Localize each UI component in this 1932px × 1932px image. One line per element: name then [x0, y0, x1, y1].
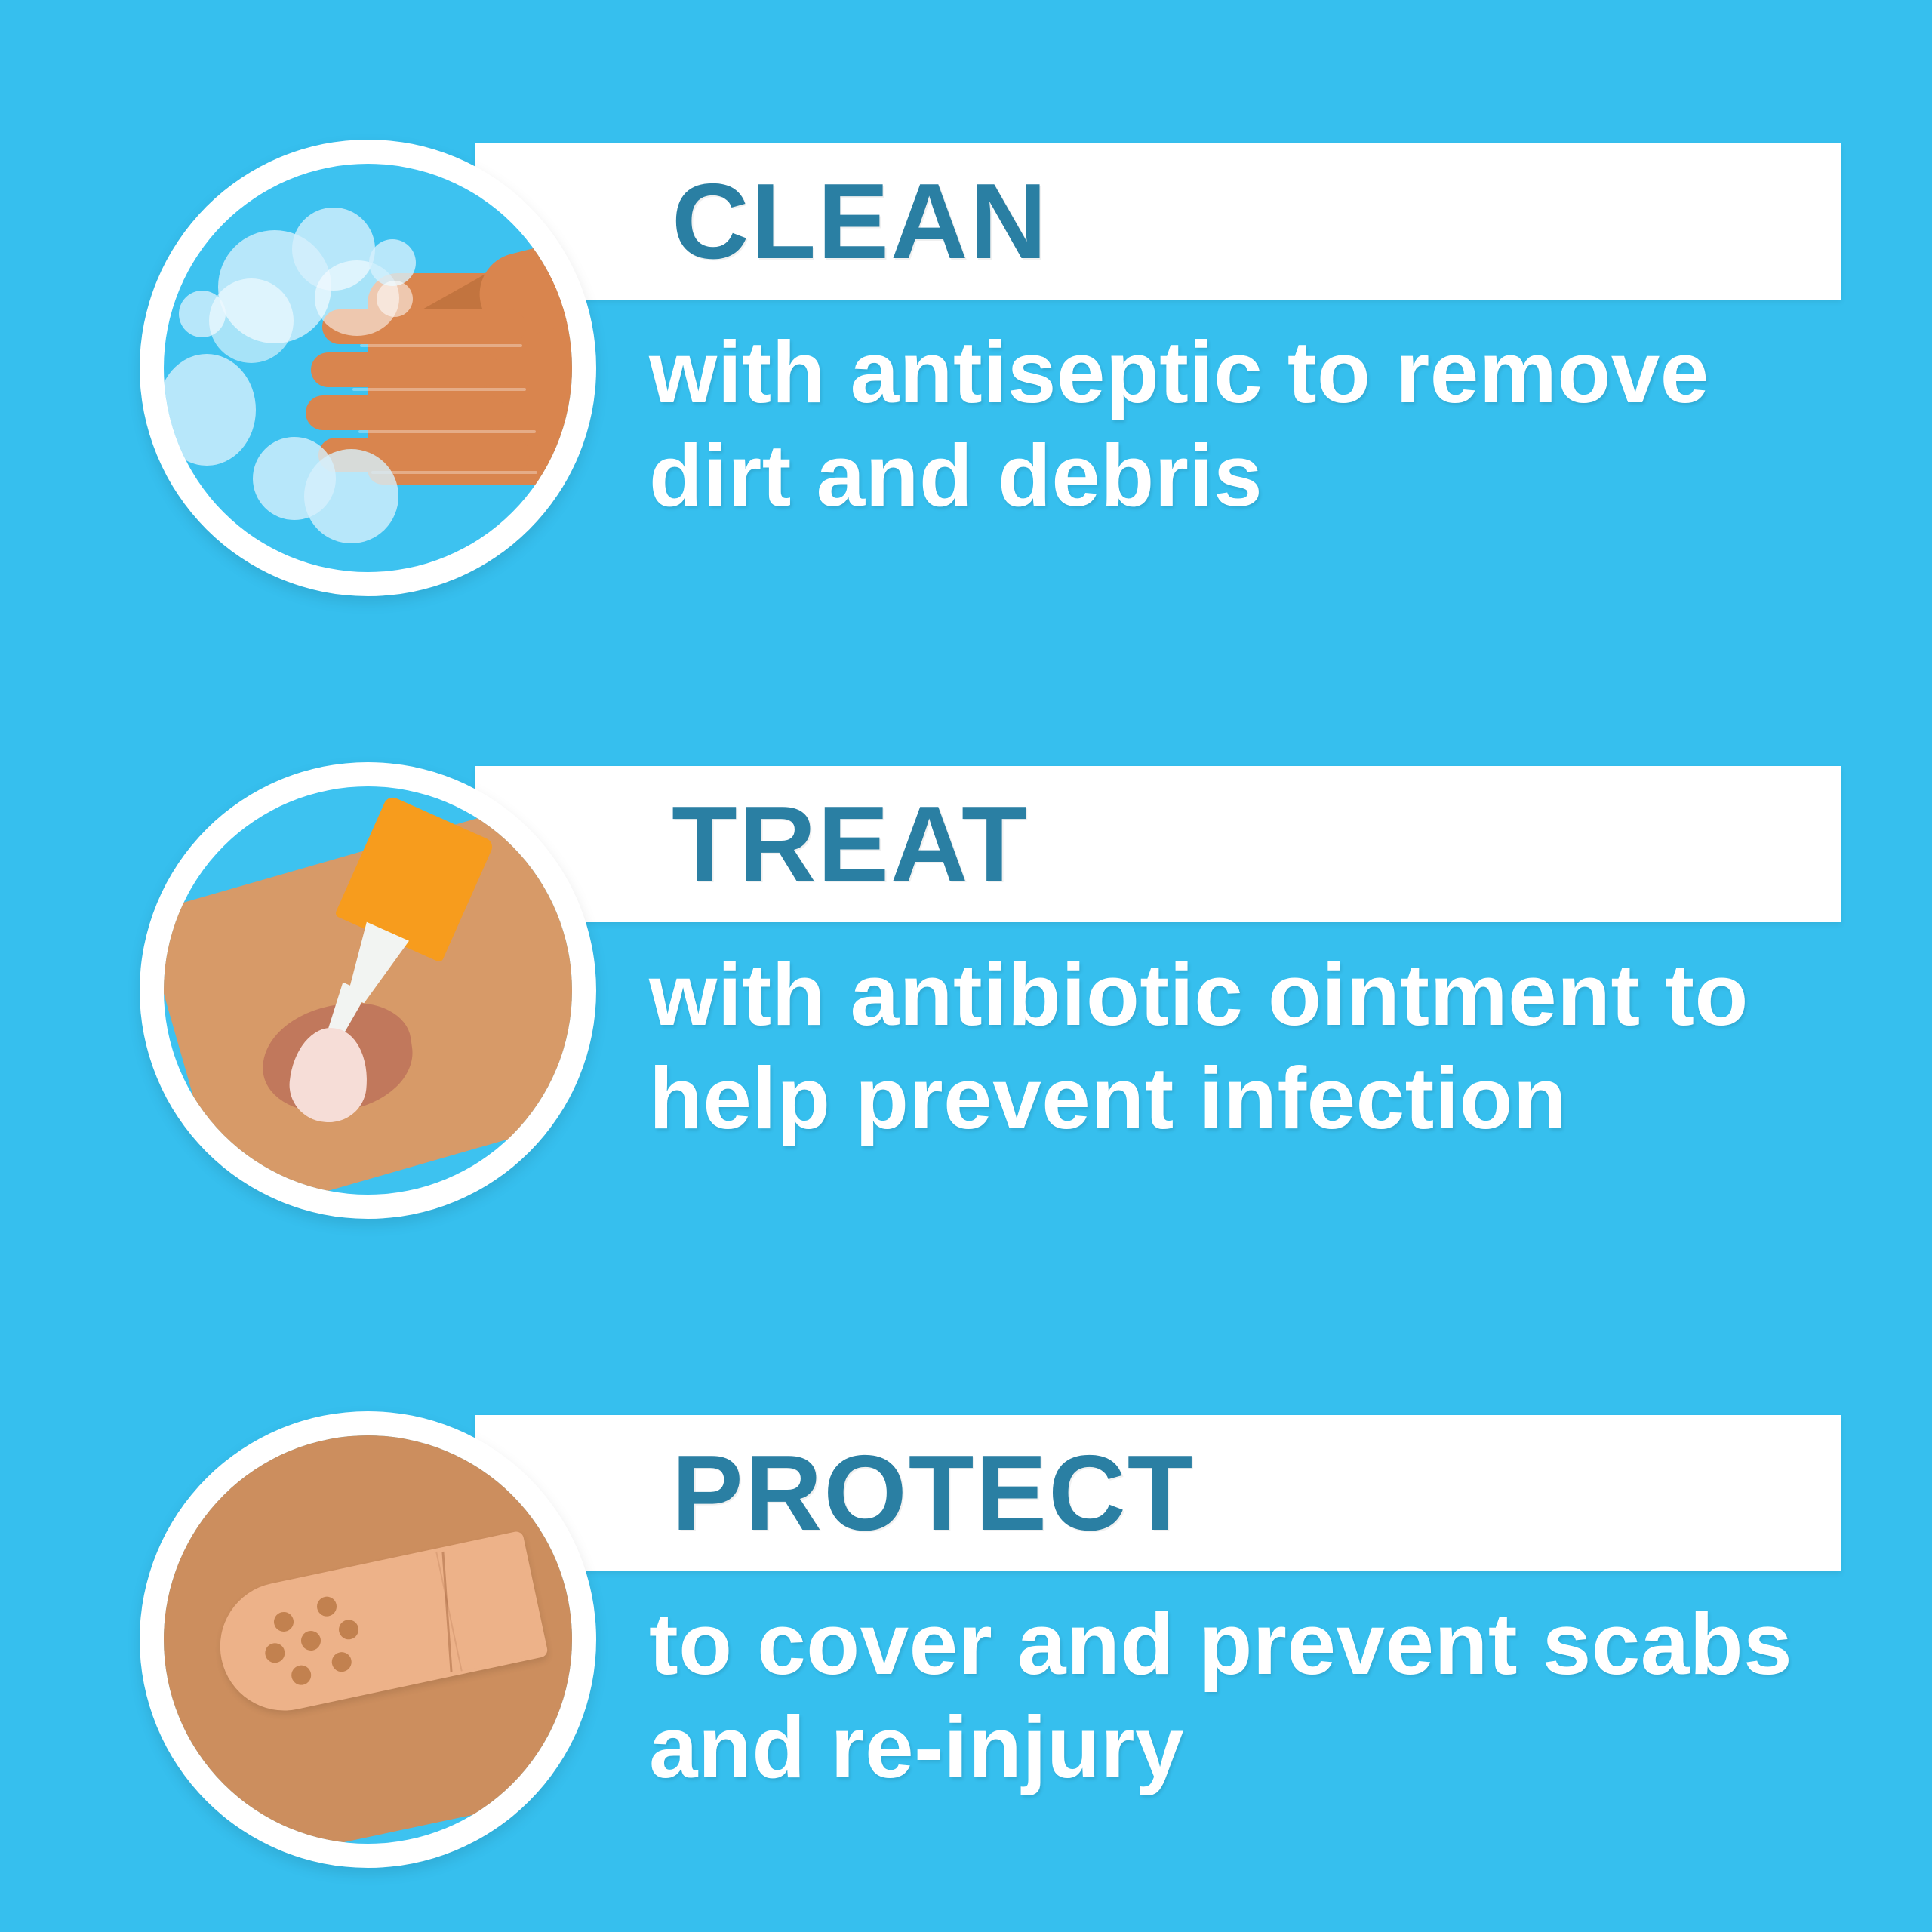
finger-crease-2	[352, 388, 526, 391]
finger-3	[306, 395, 506, 430]
body-line-1: with antiseptic to remove	[649, 321, 1887, 424]
soap-bubble	[304, 449, 398, 543]
body-line-2: dirt and debris	[649, 424, 1887, 528]
hand-washing-with-soap-icon	[140, 140, 596, 596]
step-clean: CLEAN with antiseptic to remove dirt and…	[0, 121, 1932, 634]
body-line-1: to cover and prevent scabs	[649, 1592, 1887, 1696]
wound-care-infographic: CLEAN with antiseptic to remove dirt and…	[0, 0, 1932, 1932]
step-body-clean: with antiseptic to remove dirt and debri…	[649, 321, 1887, 528]
finger-crease-4	[371, 471, 537, 474]
soap-bubble	[377, 281, 413, 317]
soap-bubble	[369, 239, 416, 286]
step-protect: PROTECT to cover and prevent scabs and r…	[0, 1392, 1932, 1906]
step-heading-treat: TREAT	[672, 791, 1029, 898]
step-body-protect: to cover and prevent scabs and re-injury	[649, 1592, 1887, 1799]
bandage-hole	[300, 1629, 323, 1653]
body-line-1: with antibiotic ointment to	[649, 943, 1887, 1047]
antibiotic-ointment-tube-icon	[140, 762, 596, 1219]
adhesive-bandage-icon	[140, 1411, 596, 1868]
bandage-hole	[272, 1611, 296, 1634]
soap-bubble	[209, 278, 294, 363]
heading-bar-clean: CLEAN	[475, 143, 1841, 300]
heading-bar-protect: PROTECT	[475, 1415, 1841, 1571]
icon-inner-disc	[164, 786, 572, 1195]
body-line-2: and re-injury	[649, 1696, 1887, 1799]
bandage-hole	[337, 1618, 361, 1641]
soap-bubble	[164, 354, 256, 466]
bandage-hole	[263, 1641, 287, 1665]
finger-crease-3	[358, 430, 536, 433]
heading-bar-treat: TREAT	[475, 766, 1841, 922]
bandage-hole	[330, 1651, 353, 1674]
icon-inner-disc	[164, 164, 572, 572]
body-line-2: help prevent infection	[649, 1047, 1887, 1150]
step-treat: TREAT with antibiotic ointment to help p…	[0, 743, 1932, 1257]
icon-inner-disc	[164, 1435, 572, 1844]
bandage-hole	[315, 1595, 339, 1618]
finger-2	[311, 352, 500, 387]
bandage-hole	[290, 1663, 313, 1687]
step-heading-clean: CLEAN	[672, 168, 1048, 275]
step-body-treat: with antibiotic ointment to help prevent…	[649, 943, 1887, 1150]
step-heading-protect: PROTECT	[672, 1440, 1194, 1547]
finger-crease-1	[360, 344, 522, 347]
